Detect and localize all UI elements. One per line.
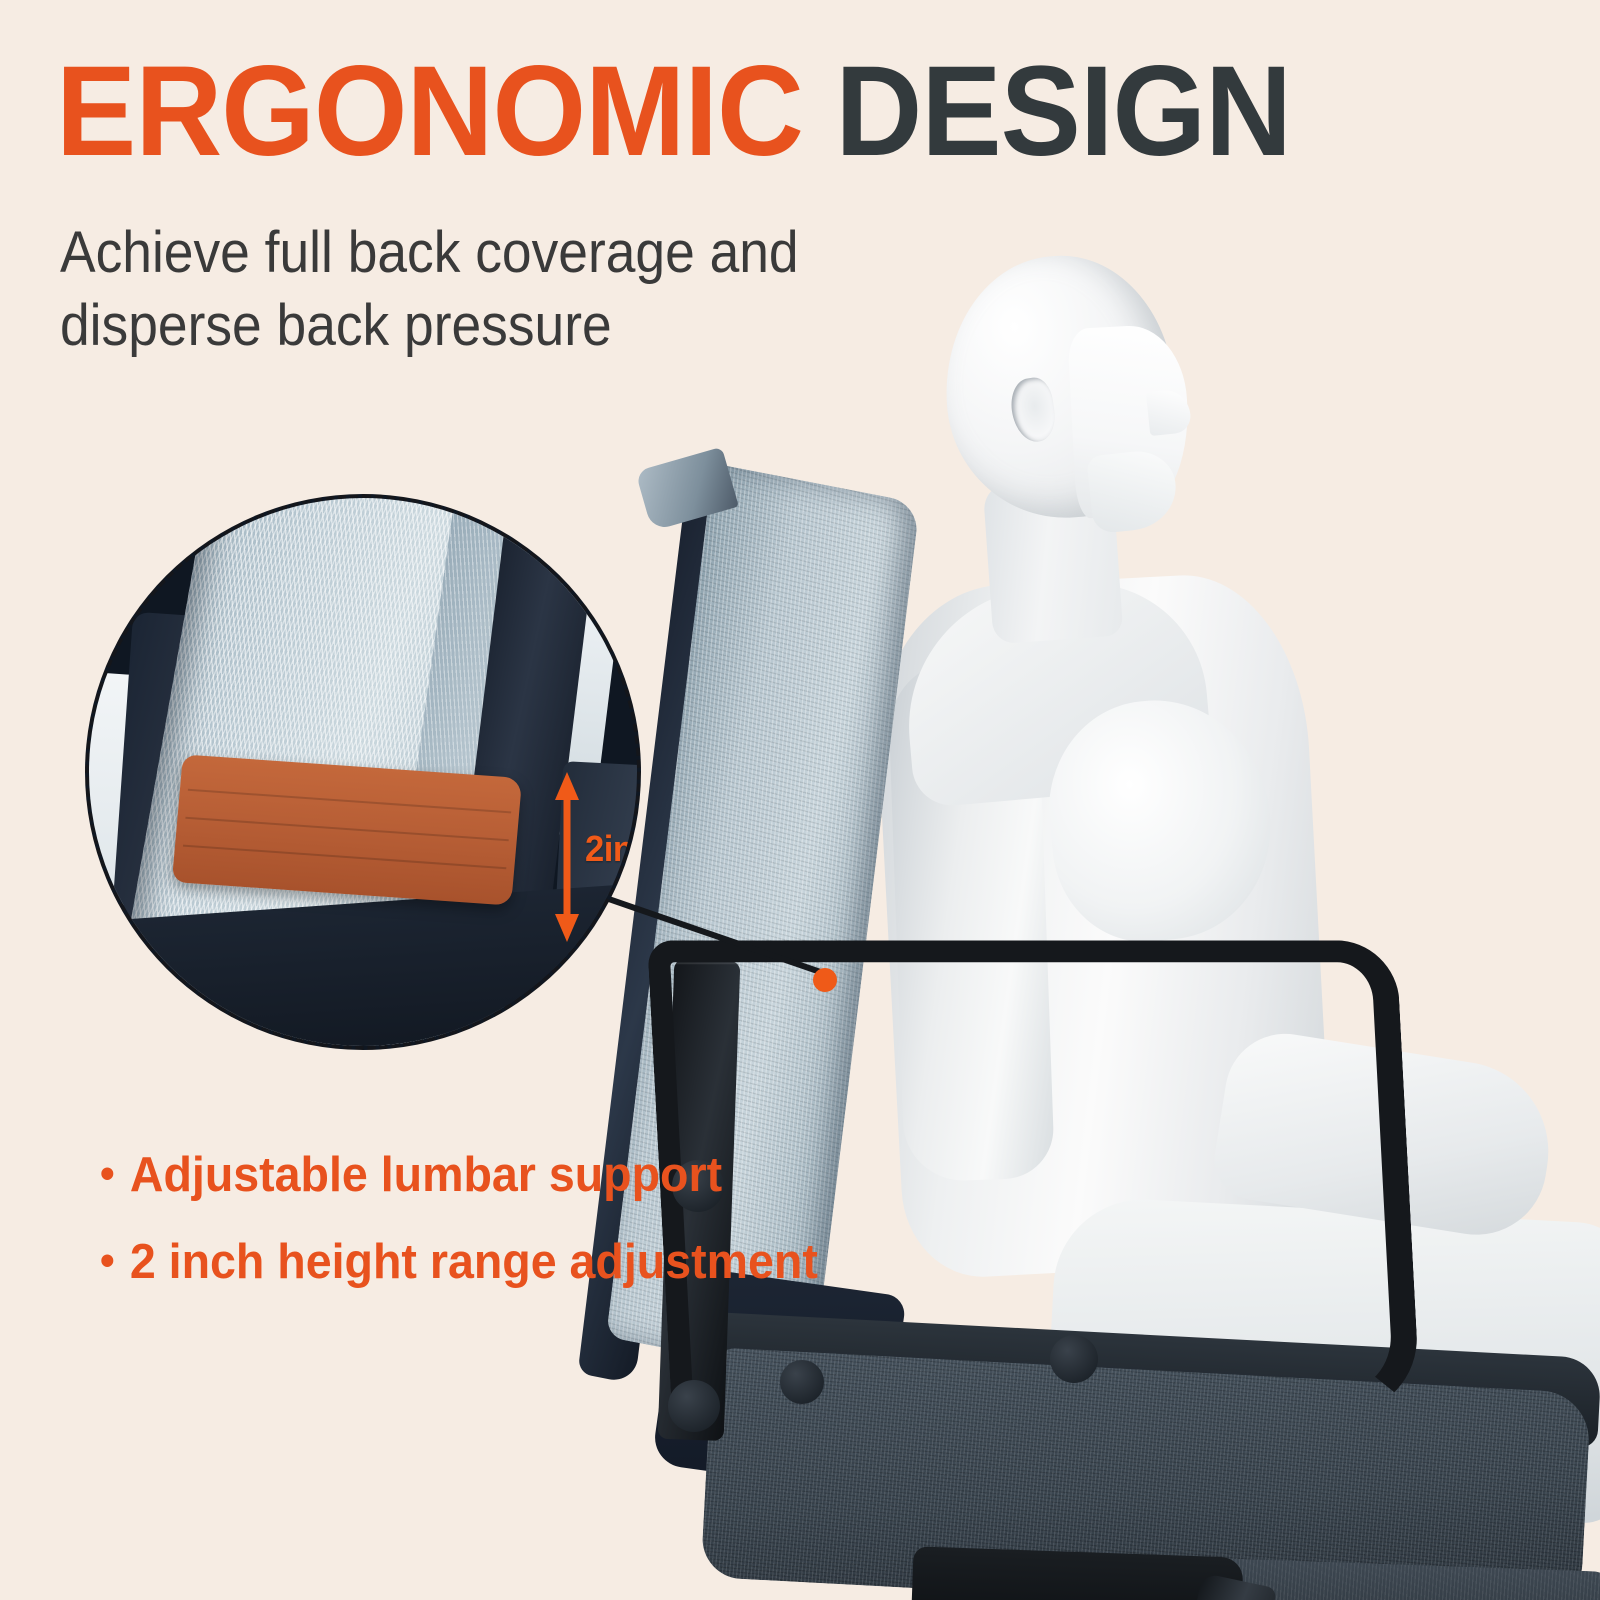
measurement-label: 2inch	[585, 828, 641, 870]
callout-anchor-dot	[813, 968, 837, 992]
chair-bolt-cap	[780, 1360, 824, 1404]
chair-bolt-cap	[668, 1380, 720, 1432]
chair-bolt-cap	[1050, 1335, 1098, 1383]
list-item: • 2 inch height range adjustment	[100, 1235, 822, 1290]
lumbar-support-band	[172, 754, 522, 905]
product-feature-graphic: ERGONOMIC DESIGN Achieve full back cover…	[0, 0, 1600, 1600]
headline-dark-word: DESIGN	[835, 40, 1291, 183]
detail-zoom-circle: 2inch	[85, 494, 641, 1050]
list-item: • Adjustable lumbar support	[100, 1148, 822, 1203]
page-title: ERGONOMIC DESIGN	[56, 48, 1291, 176]
lumbar-groove-line	[183, 845, 506, 870]
height-range-arrow-group: 2inch	[537, 766, 641, 946]
bullet-dot-icon: •	[100, 1235, 115, 1287]
bullet-text: 2 inch height range adjustment	[130, 1235, 822, 1290]
feature-bullet-list: • Adjustable lumbar support • 2 inch hei…	[100, 1148, 860, 1322]
bullet-dot-icon: •	[100, 1148, 115, 1200]
headline-accent-word: ERGONOMIC	[56, 40, 803, 183]
bullet-text: Adjustable lumbar support	[130, 1148, 822, 1203]
callout-line	[600, 890, 860, 1010]
